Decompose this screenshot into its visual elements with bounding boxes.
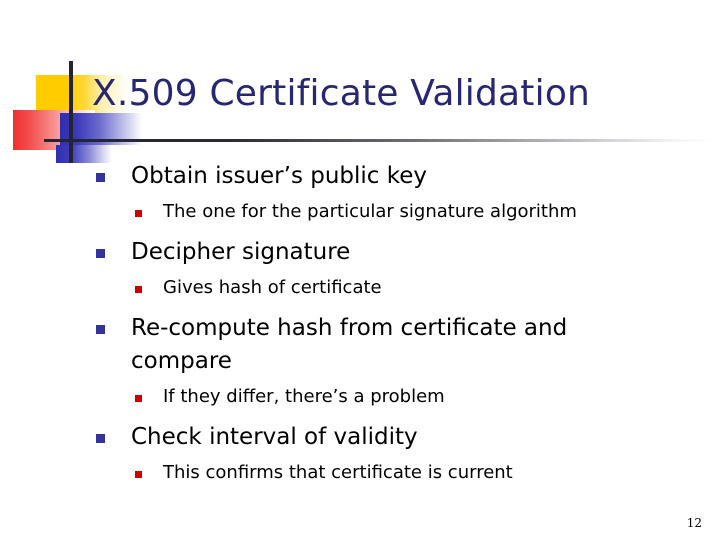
bullet-level2-text: The one for the particular signature alg…	[163, 199, 577, 225]
decoration-red-block	[13, 110, 95, 150]
bullet-level1-text: Check interval of validity	[131, 421, 418, 454]
bullet-level2: This confirms that certificate is curren…	[135, 460, 696, 486]
bullet-level2-text: Gives hash of certificate	[163, 275, 382, 301]
square-bullet-icon	[135, 210, 142, 217]
outline-group: Re-compute hash from certificate and com…	[96, 312, 696, 410]
bullet-level1-text: Re-compute hash from certificate and com…	[131, 312, 631, 378]
bullet-level1: Check interval of validity	[96, 421, 696, 454]
outline-group: Decipher signature Gives hash of certifi…	[96, 236, 696, 301]
square-bullet-icon	[135, 395, 142, 402]
bullet-level1: Decipher signature	[96, 236, 696, 269]
square-bullet-icon	[96, 325, 105, 334]
square-bullet-icon	[135, 286, 142, 293]
bullet-level2-text: This confirms that certificate is curren…	[163, 460, 513, 486]
bullet-level1-text: Obtain issuer’s public key	[131, 160, 427, 193]
bullet-level2: The one for the particular signature alg…	[135, 199, 696, 225]
slide-body: Obtain issuer’s public key The one for t…	[96, 160, 696, 497]
square-bullet-icon	[96, 249, 105, 258]
slide: X.509 Certificate Validation Obtain issu…	[0, 0, 720, 540]
square-bullet-icon	[96, 434, 105, 443]
title-underline-rule	[44, 139, 716, 142]
square-bullet-icon	[135, 471, 142, 478]
bullet-level1: Obtain issuer’s public key	[96, 160, 696, 193]
outline-group: Obtain issuer’s public key The one for t…	[96, 160, 696, 225]
bullet-level1-text: Decipher signature	[131, 236, 350, 269]
bullet-level2-text: If they differ, there’s a problem	[163, 384, 445, 410]
slide-title: X.509 Certificate Validation	[92, 72, 692, 116]
bullet-level2: Gives hash of certificate	[135, 275, 696, 301]
bullet-level1: Re-compute hash from certificate and com…	[96, 312, 696, 378]
outline-group: Check interval of validity This confirms…	[96, 421, 696, 486]
bullet-level2: If they differ, there’s a problem	[135, 384, 696, 410]
page-number: 12	[687, 516, 702, 530]
decoration-vertical-rule	[69, 61, 73, 163]
square-bullet-icon	[96, 173, 105, 182]
